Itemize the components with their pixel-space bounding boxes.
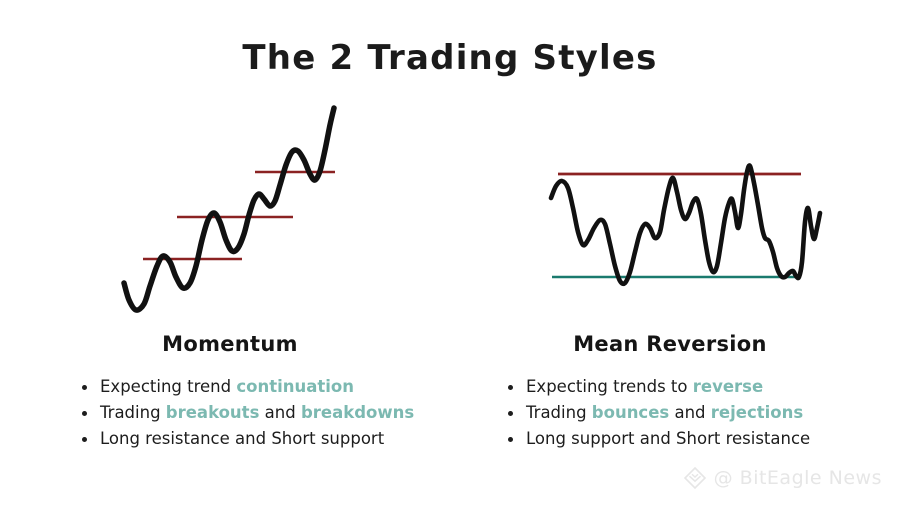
watermark: @ BitEagle News	[683, 466, 882, 490]
list-item: Long resistance and Short support	[82, 426, 440, 452]
charts-area	[0, 92, 900, 332]
momentum-heading: Momentum	[20, 332, 440, 356]
bullet-text-pre: Long support and Short resistance	[526, 429, 810, 448]
slide-root: The 2 Trading Styles Momentum Expecting …	[0, 0, 900, 506]
mean-reversion-column: Mean Reversion Expecting trends to rever…	[460, 332, 880, 452]
momentum-chart	[124, 108, 335, 310]
bullet-text-pre: Long resistance and Short support	[100, 429, 384, 448]
bullet-text-pre: Trading	[100, 403, 166, 422]
momentum-price-line	[124, 108, 334, 310]
bullet-text-pre: Expecting trend	[100, 377, 236, 396]
momentum-bullet-list: Expecting trend continuation Trading bre…	[20, 374, 440, 452]
diamond-logo-icon	[683, 466, 707, 490]
bullet-highlight-2: rejections	[711, 403, 803, 422]
mean-reversion-chart	[551, 166, 820, 284]
bullet-highlight-1: bounces	[592, 403, 669, 422]
bullet-highlight-2: breakdowns	[301, 403, 414, 422]
list-item: Expecting trends to reverse	[508, 374, 880, 400]
bullet-highlight-1: reverse	[693, 377, 763, 396]
mean-reversion-price-line	[551, 166, 820, 284]
list-item: Long support and Short resistance	[508, 426, 880, 452]
charts-svg	[0, 92, 900, 332]
mean-reversion-heading: Mean Reversion	[460, 332, 880, 356]
list-item: Expecting trend continuation	[82, 374, 440, 400]
list-item: Trading breakouts and breakdowns	[82, 400, 440, 426]
mean-reversion-bullet-list: Expecting trends to reverse Trading boun…	[460, 374, 880, 452]
list-item: Trading bounces and rejections	[508, 400, 880, 426]
bullet-text-pre: Expecting trends to	[526, 377, 693, 396]
momentum-column: Momentum Expecting trend continuation Tr…	[20, 332, 440, 452]
bullet-highlight-1: continuation	[236, 377, 354, 396]
bullet-text-mid: and	[669, 403, 711, 422]
bullet-text-pre: Trading	[526, 403, 592, 422]
bullet-highlight-1: breakouts	[166, 403, 260, 422]
bullet-text-mid: and	[259, 403, 301, 422]
page-title: The 2 Trading Styles	[0, 38, 900, 78]
watermark-text: @ BitEagle News	[714, 467, 882, 489]
